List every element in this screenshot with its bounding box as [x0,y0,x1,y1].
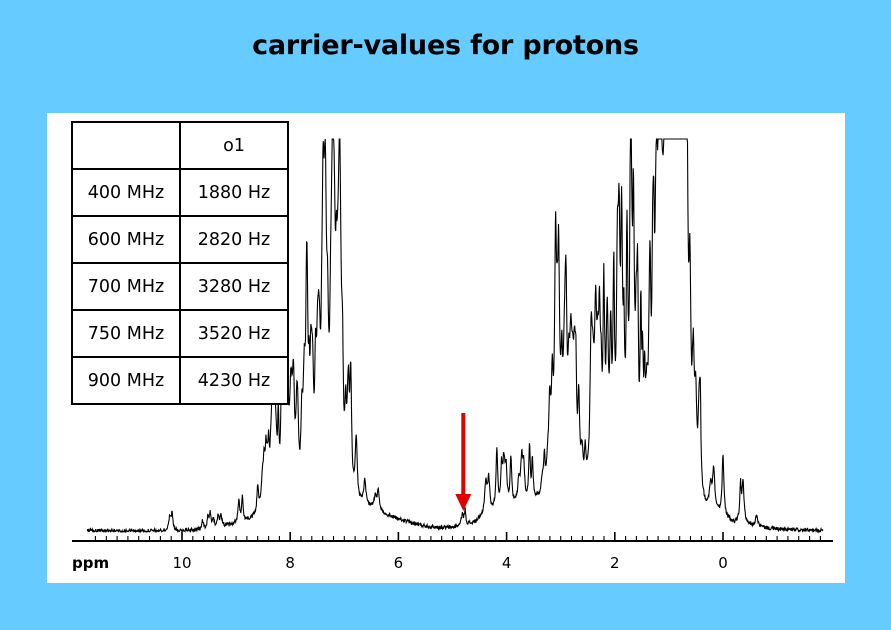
cell-o1: 3520 Hz [180,310,288,357]
cell-o1: 4230 Hz [180,357,288,404]
axis-tick-label: 8 [270,554,310,572]
table-header-o1: o1 [180,122,288,169]
axis-tick-label: 2 [595,554,635,572]
axis-ticks [95,532,820,541]
table-row: 750 MHz3520 Hz [72,310,288,357]
cell-o1: 3280 Hz [180,263,288,310]
table-row: 900 MHz4230 Hz [72,357,288,404]
arrow-head [455,494,471,511]
table-header-row: o1 [72,122,288,169]
table-header-blank [72,122,180,169]
cell-frequency: 600 MHz [72,216,180,263]
table-row: 600 MHz2820 Hz [72,216,288,263]
table-row: 700 MHz3280 Hz [72,263,288,310]
table-row: 400 MHz1880 Hz [72,169,288,216]
table-body: 400 MHz1880 Hz600 MHz2820 Hz700 MHz3280 … [72,169,288,404]
cell-o1: 1880 Hz [180,169,288,216]
cell-frequency: 900 MHz [72,357,180,404]
cell-o1: 2820 Hz [180,216,288,263]
slide-canvas: carrier-values for protons ppm 1086420 [0,0,891,630]
axis-tick-label: 4 [487,554,527,572]
carrier-values-table: o1 400 MHz1880 Hz600 MHz2820 Hz700 MHz32… [71,121,289,405]
content-panel: ppm 1086420 o1 400 MHz1880 Hz600 MHz2820… [47,113,845,583]
page-title: carrier-values for protons [0,30,891,61]
cell-frequency: 400 MHz [72,169,180,216]
cell-frequency: 700 MHz [72,263,180,310]
axis-tick-label: 10 [162,554,202,572]
axis-unit-label: ppm [72,554,109,572]
cell-frequency: 750 MHz [72,310,180,357]
axis-tick-label: 0 [703,554,743,572]
axis-tick-label: 6 [378,554,418,572]
carrier-position-arrow [455,413,471,511]
x-axis [72,532,833,541]
